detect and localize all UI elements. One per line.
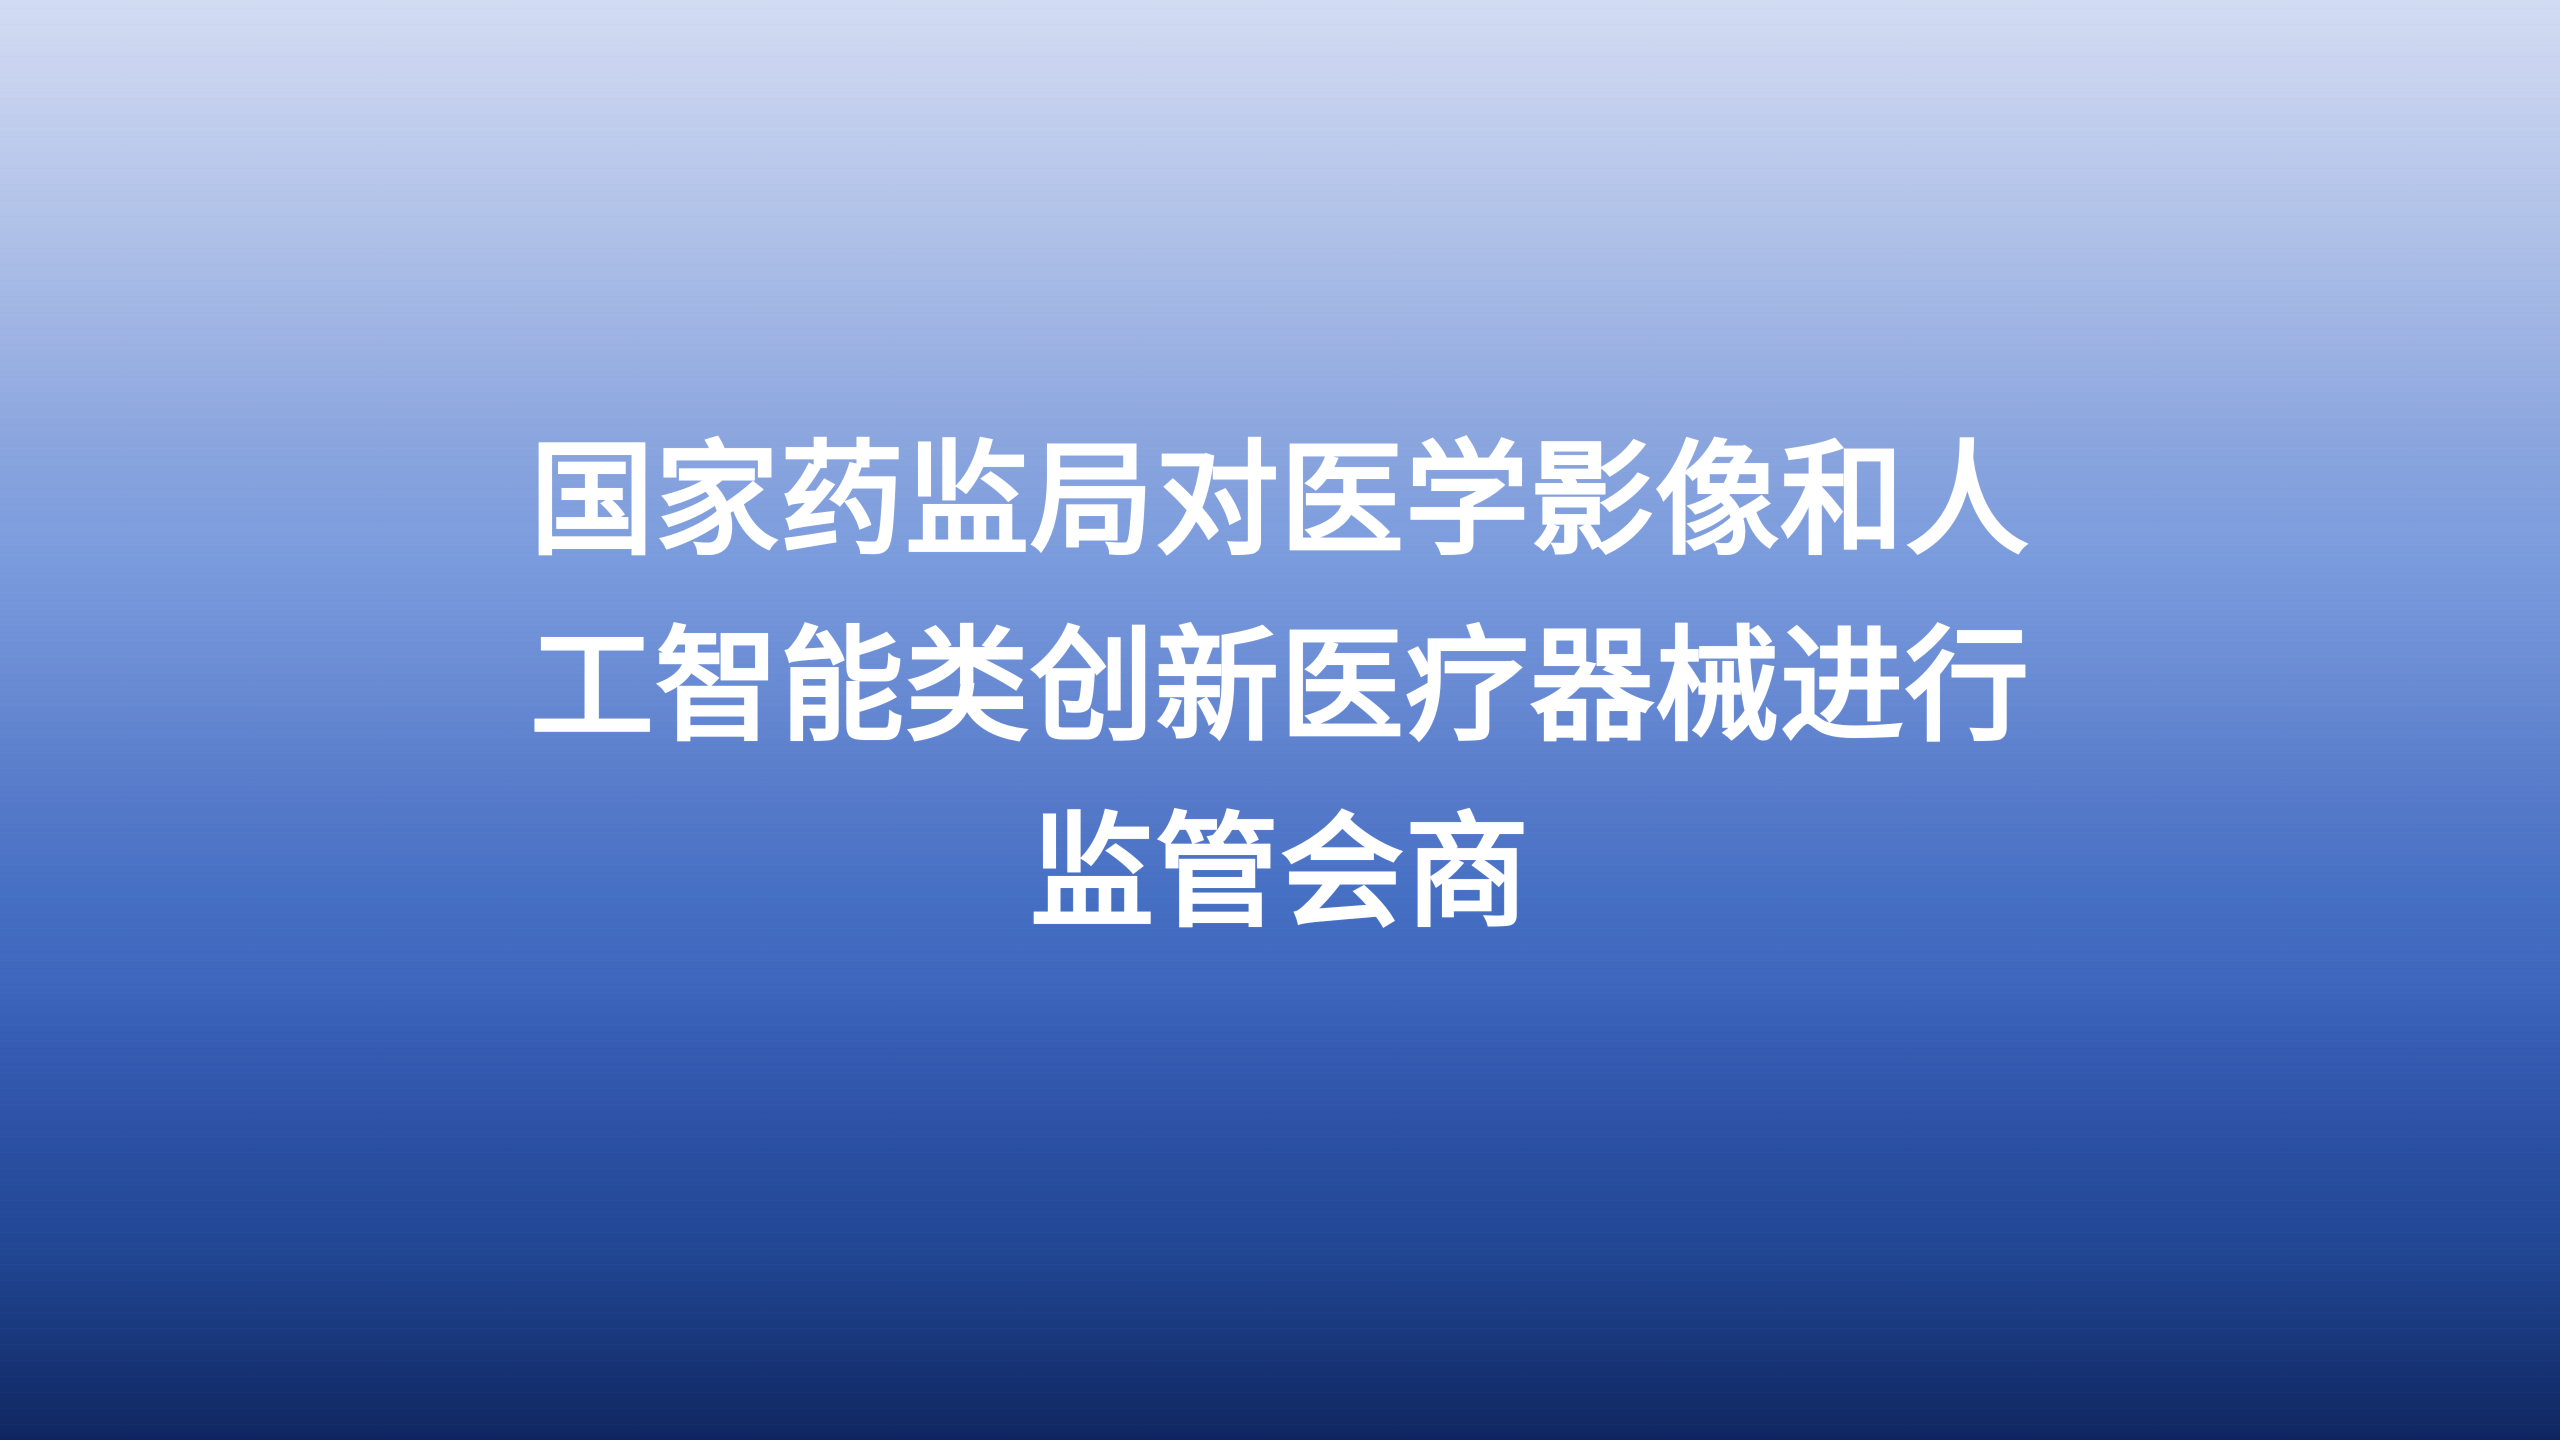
headline-line-3: 监管会商 — [470, 780, 2090, 966]
headline-line-1: 国家药监局对医学影像和人 — [470, 408, 2090, 594]
title-slide: 国家药监局对医学影像和人 工智能类创新医疗器械进行 监管会商 — [0, 0, 2560, 1440]
headline-line-2: 工智能类创新医疗器械进行 — [470, 594, 2090, 780]
headline-container: 国家药监局对医学影像和人 工智能类创新医疗器械进行 监管会商 — [0, 0, 2560, 1440]
page-title: 国家药监局对医学影像和人 工智能类创新医疗器械进行 监管会商 — [470, 408, 2090, 966]
